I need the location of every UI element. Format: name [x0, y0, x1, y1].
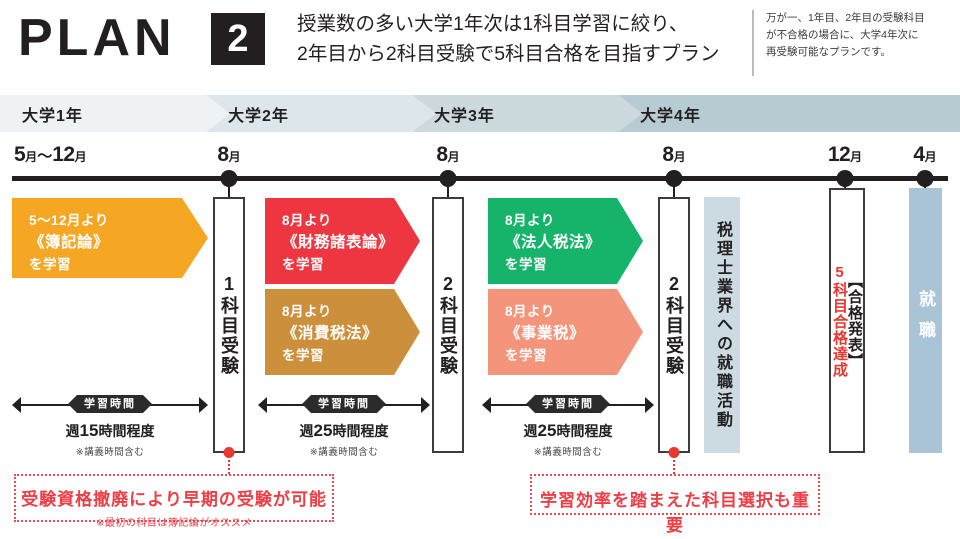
- plan-number-badge: 2: [211, 13, 265, 65]
- result-heading: 【合格発表】: [847, 273, 862, 369]
- callout-sub-text: ※最初の科目は簿記論がオススメ: [16, 514, 332, 529]
- page-title: PLAN: [18, 8, 176, 68]
- header-lead-line-1: 授業数の多い大学1年次は1科目学習に絞り、: [297, 9, 745, 39]
- month-number: 8: [436, 143, 447, 166]
- study-time-note-3: ※講義時間含む: [482, 444, 654, 458]
- employment-column: 就職: [909, 188, 942, 453]
- header-divider: [752, 10, 754, 76]
- exam-box-label: 2科目受験: [665, 274, 683, 376]
- hours-number: 15: [80, 421, 99, 440]
- study-block-line-1: 8月より: [282, 210, 420, 232]
- header-lead-text: 授業数の多い大学1年次は1科目学習に絞り、 2年目から2科目受験で5科目合格を目…: [297, 9, 745, 69]
- study-block-line-1: 8月より: [282, 301, 420, 323]
- exam-box-label: 2科目受験: [439, 274, 457, 376]
- year-segment-2: 大学2年: [206, 95, 436, 132]
- header-note: 万が一、1年目、2年目の受験科目 が不合格の場合に、大学4年次に 再受験可能なプ…: [766, 10, 952, 61]
- month-number-end: 12: [52, 143, 74, 166]
- exam-box-3: 2科目受験: [658, 197, 690, 453]
- exam-red-dot-1: [224, 447, 235, 458]
- month-suffix: 月: [925, 150, 937, 164]
- callout-main-text: 受験資格撤廃により早期の受験が可能: [16, 485, 332, 510]
- job-hunting-column: 税理士業界への就職活動: [704, 197, 740, 453]
- study-time-hours-3: 週25時間程度: [482, 421, 654, 441]
- study-block-subject: 《法人税法》: [505, 232, 643, 254]
- result-column-stack: 【合格発表】 5科目合格達成: [832, 264, 862, 378]
- header: PLAN 2 授業数の多い大学1年次は1科目学習に絞り、 2年目から2科目受験で…: [0, 0, 960, 92]
- study-block-consumption-tax: 8月より 《消費税法》 を学習: [265, 289, 420, 375]
- study-block-corporate-tax: 8月より 《法人税法》 を学習: [488, 198, 643, 284]
- year-band: 大学1年 大学2年 大学3年 大学4年: [0, 95, 960, 132]
- study-time-hours-2: 週25時間程度: [258, 421, 430, 441]
- exam-red-dot-3: [669, 447, 680, 458]
- result-text: 5科目合格達成: [832, 264, 847, 378]
- hours-suffix: 時間程度: [98, 423, 154, 439]
- arrow-right-icon: [199, 397, 208, 413]
- hours-prefix: 週: [524, 423, 538, 439]
- month-suffix: 月: [674, 150, 686, 164]
- employment-label: 就職: [917, 290, 934, 352]
- month-suffix: 月: [850, 150, 862, 164]
- study-block-line-1: 5〜12月より: [29, 210, 208, 232]
- study-time-group-1: 学習時間 週15時間程度 ※講義時間含む: [12, 396, 208, 458]
- month-label-3: 8月: [436, 143, 459, 167]
- month-suffix-end: 月: [75, 150, 87, 164]
- month-number: 8: [217, 143, 228, 166]
- infographic-root: PLAN 2 授業数の多い大学1年次は1科目学習に絞り、 2年目から2科目受験で…: [0, 0, 960, 539]
- study-block-subject: 《消費税法》: [282, 323, 420, 345]
- month-number: 4: [913, 143, 924, 166]
- study-time-group-3: 学習時間 週25時間程度 ※講義時間含む: [482, 396, 654, 458]
- study-block-subject: 《事業税》: [505, 323, 643, 345]
- month-number: 8: [662, 143, 673, 166]
- study-time-group-2: 学習時間 週25時間程度 ※講義時間含む: [258, 396, 430, 458]
- study-block-line-3: を学習: [29, 254, 208, 276]
- header-lead-line-2: 2年目から2科目受験で5科目合格を目指すプラン: [297, 39, 745, 69]
- year-label-1: 大学1年: [0, 102, 83, 126]
- callout-exam-eligibility: 受験資格撤廃により早期の受験が可能 ※最初の科目は簿記論がオススメ: [14, 474, 334, 522]
- month-label-1: 5月〜12月: [14, 143, 87, 167]
- header-note-line-2: が不合格の場合に、大学4年次に: [766, 27, 952, 44]
- study-time-measure-3: 学習時間: [482, 396, 654, 414]
- month-suffix: 月: [448, 150, 460, 164]
- exam-box-label: 1科目受験: [220, 274, 238, 376]
- study-time-hours-1: 週15時間程度: [12, 421, 208, 441]
- month-suffix: 月: [229, 150, 241, 164]
- header-note-line-3: 再受験可能なプランです。: [766, 44, 952, 61]
- year-segment-3: 大学3年: [412, 95, 642, 132]
- year-segment-4: 大学4年: [618, 95, 960, 132]
- month-label-6: 4月: [913, 143, 936, 167]
- month-label-5: 12月: [828, 143, 862, 167]
- month-range-tilde: 〜: [37, 148, 52, 165]
- hours-prefix: 週: [66, 423, 80, 439]
- callout-main-text: 学習効率を踏まえた科目選択も重要: [532, 486, 818, 536]
- study-block-financial-statements: 8月より 《財務諸表論》 を学習: [265, 198, 420, 284]
- study-time-badge: 学習時間: [68, 395, 152, 413]
- timeline-axis: [12, 176, 948, 181]
- hours-suffix: 時間程度: [332, 423, 388, 439]
- hours-number: 25: [314, 421, 333, 440]
- exam-box-1: 1科目受験: [213, 197, 245, 453]
- exam-box-2: 2科目受験: [432, 197, 464, 453]
- month-number: 5: [14, 143, 25, 166]
- hours-number: 25: [538, 421, 557, 440]
- study-block-subject: 《財務諸表論》: [282, 232, 420, 254]
- callout-subject-selection: 学習効率を踏まえた科目選択も重要: [530, 474, 820, 515]
- arrow-right-icon: [421, 397, 430, 413]
- month-label-2: 8月: [217, 143, 240, 167]
- study-time-note-2: ※講義時間含む: [258, 444, 430, 458]
- study-time-badge: 学習時間: [526, 395, 610, 413]
- study-block-line-3: を学習: [505, 254, 643, 276]
- job-hunting-label: 税理士業界への就職活動: [714, 221, 730, 430]
- study-block-line-3: を学習: [282, 345, 420, 367]
- hours-suffix: 時間程度: [556, 423, 612, 439]
- month-number: 12: [828, 143, 850, 166]
- study-block-line-3: を学習: [282, 254, 420, 276]
- study-time-measure-1: 学習時間: [12, 396, 208, 414]
- result-announcement-column: 【合格発表】 5科目合格達成: [829, 188, 865, 453]
- header-note-line-1: 万が一、1年目、2年目の受験科目: [766, 10, 952, 27]
- arrow-right-icon: [645, 397, 654, 413]
- month-suffix: 月: [25, 150, 37, 164]
- study-block-line-3: を学習: [505, 345, 643, 367]
- year-segment-1: 大学1年: [0, 95, 230, 132]
- month-label-4: 8月: [662, 143, 685, 167]
- study-time-measure-2: 学習時間: [258, 396, 430, 414]
- study-block-line-1: 8月より: [505, 301, 643, 323]
- study-block-business-tax: 8月より 《事業税》 を学習: [488, 289, 643, 375]
- hours-prefix: 週: [300, 423, 314, 439]
- study-block-line-1: 8月より: [505, 210, 643, 232]
- study-block-subject: 《簿記論》: [29, 232, 208, 254]
- study-block-bookkeeping: 5〜12月より 《簿記論》 を学習: [12, 198, 208, 278]
- study-time-note-1: ※講義時間含む: [12, 444, 208, 458]
- study-time-badge: 学習時間: [302, 395, 386, 413]
